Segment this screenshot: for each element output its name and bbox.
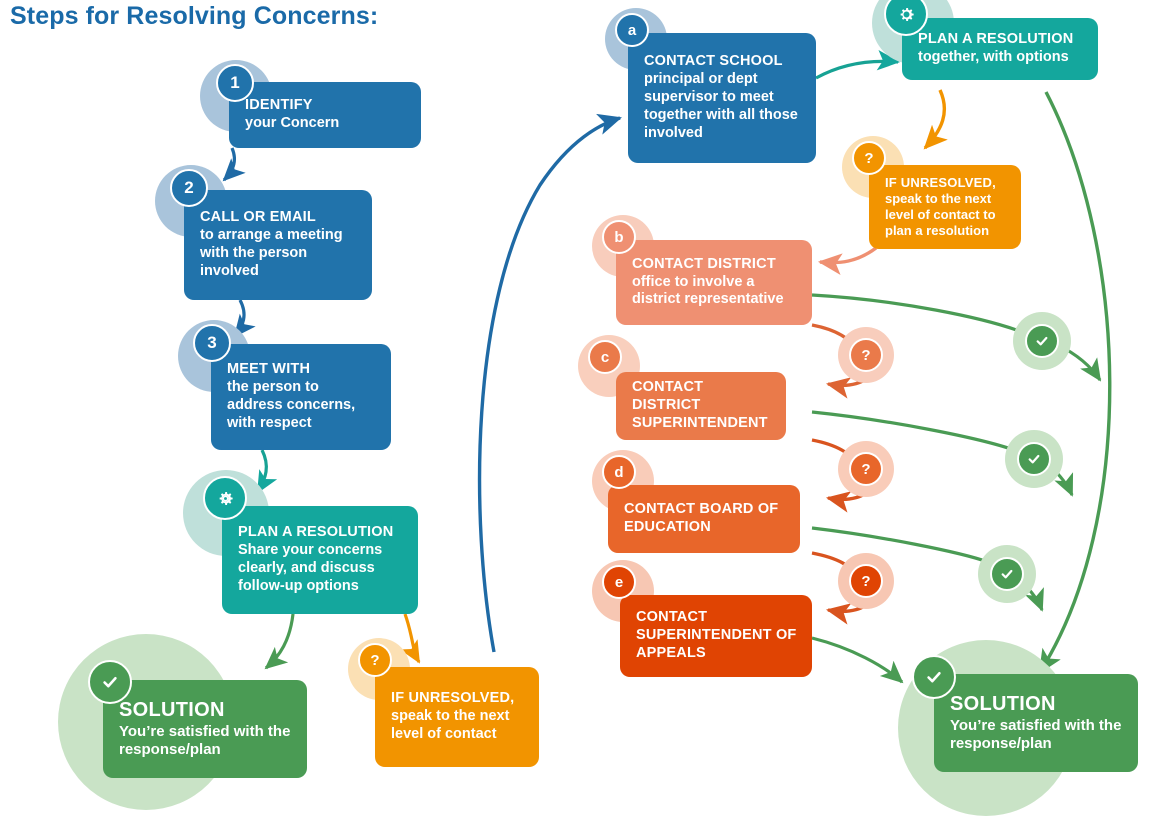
- card-solution-left-body: You’re satisfied with the response/plan: [119, 723, 293, 760]
- card-unresolved-right[interactable]: IF UNRESOLVED, speak to the next level o…: [869, 165, 1021, 249]
- badge-step-a: a: [615, 13, 649, 47]
- connector-a-plan: [816, 61, 898, 78]
- card-contact-board-of-education-title: CONTACT BOARD OF EDUCATION: [624, 501, 786, 537]
- card-unresolved-left-body: speak to the next level of contact: [391, 708, 525, 744]
- badge-step-3: 3: [193, 324, 231, 362]
- check-icon: [100, 672, 120, 692]
- connector-d-check3: [812, 528, 988, 562]
- badge-step-1: 1: [216, 64, 254, 102]
- card-contact-superintendent-of-appeals-title: CONTACT SUPERINTENDENT OF APPEALS: [636, 609, 798, 662]
- page-title: Steps for Resolving Concerns:: [10, 2, 378, 31]
- badge-step-a-label: a: [628, 22, 636, 39]
- badge-question-b-c: ?: [849, 338, 883, 372]
- card-plan-resolution-right-body: together, with options: [918, 49, 1084, 67]
- card-solution-right[interactable]: SOLUTION You’re satisfied with the respo…: [934, 674, 1138, 772]
- badge-step-3-label: 3: [207, 333, 216, 353]
- card-contact-board-of-education[interactable]: CONTACT BOARD OF EDUCATION: [608, 485, 800, 553]
- badge-step-1-label: 1: [230, 73, 239, 93]
- check-icon: [999, 566, 1015, 582]
- card-contact-school-title: CONTACT SCHOOL: [644, 53, 802, 71]
- card-plan-resolution-left[interactable]: PLAN A RESOLUTION Share your concerns cl…: [222, 506, 418, 614]
- badge-question-d-e: ?: [849, 564, 883, 598]
- badge-question-c-d-label: ?: [861, 461, 870, 478]
- card-contact-superintendent-of-appeals[interactable]: CONTACT SUPERINTENDENT OF APPEALS: [620, 595, 812, 677]
- card-unresolved-right-body: speak to the next level of contact to pl…: [885, 191, 1007, 239]
- connector-plan-unresolved: [405, 614, 419, 662]
- card-contact-district-body: office to involve a district representat…: [632, 274, 798, 310]
- card-call-or-email[interactable]: CALL OR EMAIL to arrange a meeting with …: [184, 190, 372, 300]
- card-meet-with[interactable]: MEET WITH the person to address concerns…: [211, 344, 391, 450]
- card-solution-right-body: You’re satisfied with the response/plan: [950, 717, 1124, 754]
- badge-step-e: e: [602, 565, 636, 599]
- card-plan-resolution-left-title: PLAN A RESOLUTION: [238, 524, 404, 542]
- card-solution-left[interactable]: SOLUTION You’re satisfied with the respo…: [103, 680, 307, 778]
- badge-check-2: [1017, 442, 1051, 476]
- badge-step-2-label: 2: [184, 178, 193, 198]
- badge-step-d: d: [602, 455, 636, 489]
- card-identify-title: IDENTIFY: [245, 97, 407, 115]
- badge-question-right-label: ?: [864, 150, 873, 167]
- badge-question-left-label: ?: [370, 652, 379, 669]
- card-call-or-email-title: CALL OR EMAIL: [200, 209, 358, 227]
- card-unresolved-left-title: IF UNRESOLVED,: [391, 690, 525, 708]
- badge-step-c: c: [588, 340, 622, 374]
- gear-icon: [897, 5, 916, 24]
- connector-unresolved-b: [820, 248, 876, 263]
- card-contact-district[interactable]: CONTACT DISTRICT office to involve a dis…: [616, 240, 812, 325]
- connector-plan-solution: [266, 614, 293, 668]
- card-identify[interactable]: IDENTIFY your Concern: [229, 82, 421, 148]
- card-contact-district-superintendent[interactable]: CONTACT DISTRICT SUPERINTENDENT: [616, 372, 786, 440]
- connector-step1-step2: [224, 148, 234, 180]
- badge-question-left: ?: [358, 643, 392, 677]
- badge-question-right: ?: [852, 141, 886, 175]
- card-contact-school[interactable]: CONTACT SCHOOL principal or dept supervi…: [628, 33, 816, 163]
- card-plan-resolution-left-body: Share your concerns clearly, and discuss…: [238, 542, 404, 595]
- card-identify-body: your Concern: [245, 115, 407, 133]
- card-solution-left-title: SOLUTION: [119, 698, 293, 723]
- badge-step-b: b: [602, 220, 636, 254]
- badge-check-left: [88, 660, 132, 704]
- card-call-or-email-body: to arrange a meeting with the person inv…: [200, 227, 358, 280]
- badge-step-2: 2: [170, 169, 208, 207]
- card-meet-with-title: MEET WITH: [227, 361, 377, 379]
- card-unresolved-left[interactable]: IF UNRESOLVED, speak to the next level o…: [375, 667, 539, 767]
- badge-gear-left: [203, 476, 247, 520]
- connector-c-check2: [812, 412, 1014, 450]
- card-plan-resolution-right[interactable]: PLAN A RESOLUTION together, with options: [902, 18, 1098, 80]
- badge-step-d-label: d: [614, 464, 623, 481]
- card-solution-right-title: SOLUTION: [950, 692, 1124, 717]
- connector-e-solution: [812, 638, 902, 682]
- card-contact-district-superintendent-title: CONTACT DISTRICT SUPERINTENDENT: [632, 379, 772, 432]
- connector-b-check1: [812, 295, 1022, 332]
- badge-question-c-d: ?: [849, 452, 883, 486]
- badge-check-1: [1025, 324, 1059, 358]
- card-meet-with-body: the person to address concerns, with res…: [227, 379, 377, 432]
- diagram-canvas: Steps for Resolving Concerns: 1 IDENTIFY…: [0, 0, 1169, 825]
- badge-question-b-c-label: ?: [861, 347, 870, 364]
- card-plan-resolution-right-title: PLAN A RESOLUTION: [918, 31, 1084, 49]
- connector-planright-solution: [1040, 92, 1110, 672]
- badge-step-b-label: b: [614, 229, 623, 246]
- badge-question-d-e-label: ?: [861, 573, 870, 590]
- card-unresolved-right-title: IF UNRESOLVED,: [885, 175, 1007, 191]
- card-contact-district-title: CONTACT DISTRICT: [632, 256, 798, 274]
- check-icon: [924, 667, 944, 687]
- connector-plan-unresolved-right: [925, 90, 944, 148]
- card-contact-school-body: principal or dept supervisor to meet tog…: [644, 71, 802, 142]
- gear-icon: [216, 489, 235, 508]
- check-icon: [1034, 333, 1050, 349]
- check-icon: [1026, 451, 1042, 467]
- badge-step-e-label: e: [615, 574, 623, 591]
- badge-check-3: [990, 557, 1024, 591]
- badge-check-right: [912, 655, 956, 699]
- badge-step-c-label: c: [601, 349, 609, 366]
